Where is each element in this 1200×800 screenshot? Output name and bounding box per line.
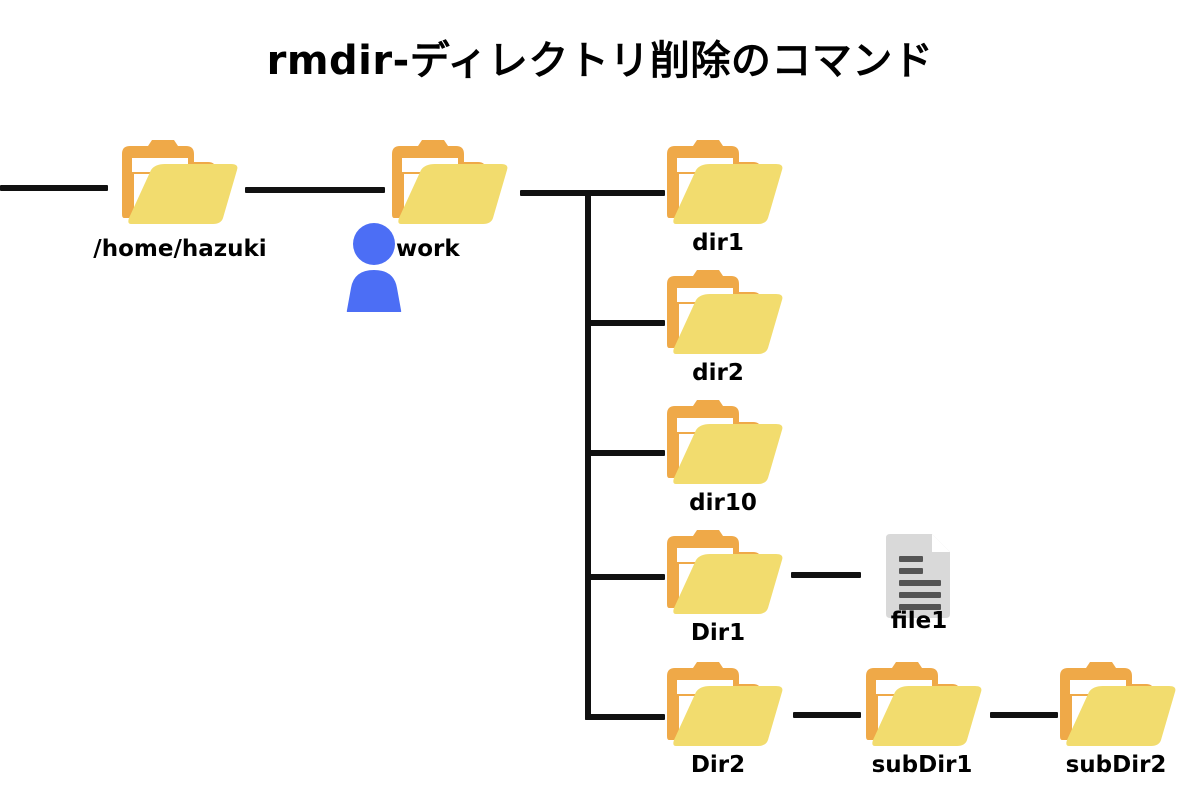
edge-Dir2-subDir1: [793, 712, 861, 718]
tree-node-subDir1[interactable]: subDir1: [862, 662, 988, 754]
folder-icon[interactable]: [862, 662, 988, 754]
edge-trunk-Dir1: [585, 574, 665, 580]
diagram-canvas: rmdir-ディレクトリ削除のコマンド /home/hazukiworkdir1…: [0, 0, 1200, 800]
folder-icon[interactable]: [663, 662, 789, 754]
folder-icon[interactable]: [663, 400, 789, 492]
edge-home-work: [245, 187, 385, 193]
edge-trunk-dir10: [585, 450, 665, 456]
node-label-home: /home/hazuki: [93, 236, 266, 262]
edge-trunk-Dir2: [585, 714, 665, 720]
tree-node-Dir2[interactable]: Dir2: [663, 662, 789, 754]
tree-node-dir2[interactable]: dir2: [663, 270, 789, 362]
folder-glyph: [862, 662, 988, 754]
node-label-Dir2: Dir2: [691, 752, 745, 778]
folder-icon[interactable]: [663, 270, 789, 362]
node-label-work: work: [396, 236, 460, 262]
folder-glyph: [388, 140, 514, 232]
person-glyph: [345, 222, 403, 312]
file-icon[interactable]: [886, 530, 954, 618]
edge-subDir1-subDir2: [990, 712, 1058, 718]
folder-glyph: [663, 400, 789, 492]
folder-icon[interactable]: [663, 530, 789, 622]
edge-trunk-dir2: [585, 320, 665, 326]
folder-glyph: [663, 530, 789, 622]
folder-icon[interactable]: [118, 140, 244, 232]
tree-node-subDir2[interactable]: subDir2: [1056, 662, 1182, 754]
tree-node-file1[interactable]: file1: [886, 530, 954, 618]
node-label-dir1: dir1: [692, 230, 744, 256]
node-label-dir2: dir2: [692, 360, 744, 386]
page-title: rmdir-ディレクトリ削除のコマンド: [0, 28, 1200, 86]
tree-node-dir10[interactable]: dir10: [663, 400, 789, 492]
folder-glyph: [118, 140, 244, 232]
folder-glyph: [1056, 662, 1182, 754]
folder-icon[interactable]: [388, 140, 514, 232]
edge-root-home: [0, 185, 108, 191]
tree-node-Dir1[interactable]: Dir1: [663, 530, 789, 622]
edge-Dir1-file1: [791, 572, 861, 578]
node-label-file1: file1: [891, 608, 948, 634]
edge-trunk-dir1: [585, 190, 665, 196]
node-label-subDir1: subDir1: [872, 752, 973, 778]
folder-icon[interactable]: [663, 140, 789, 232]
folder-glyph: [663, 662, 789, 754]
tree-node-dir1[interactable]: dir1: [663, 140, 789, 232]
edge-work-trunk: [520, 190, 590, 196]
folder-glyph: [663, 270, 789, 362]
tree-node-home[interactable]: /home/hazuki: [118, 140, 244, 232]
document-glyph: [886, 530, 954, 618]
node-label-dir10: dir10: [689, 490, 757, 516]
folder-icon[interactable]: [1056, 662, 1182, 754]
node-label-subDir2: subDir2: [1066, 752, 1167, 778]
node-label-Dir1: Dir1: [691, 620, 745, 646]
current-user-marker: [345, 222, 403, 316]
tree-node-work[interactable]: work: [388, 140, 514, 232]
folder-glyph: [663, 140, 789, 232]
